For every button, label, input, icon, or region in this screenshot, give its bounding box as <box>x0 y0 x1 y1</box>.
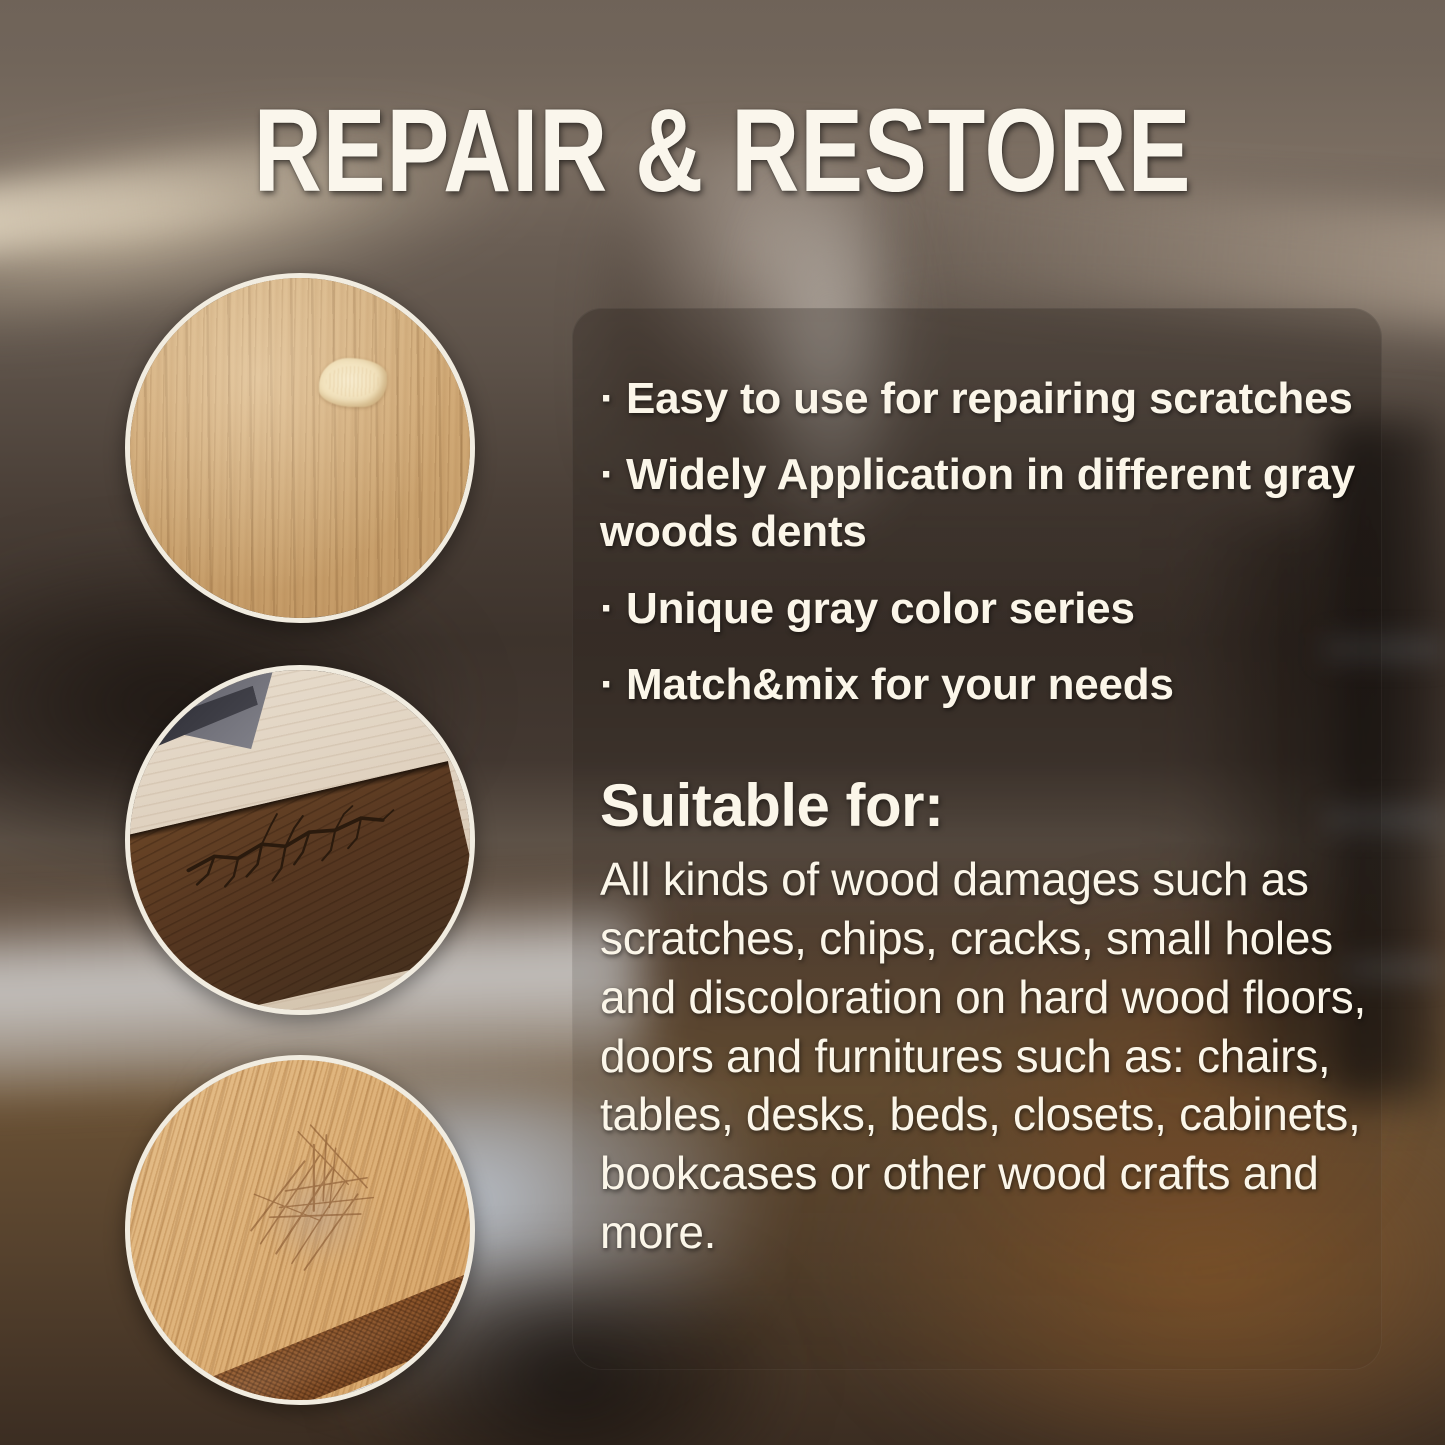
feature-bullet-3: Unique gray color series <box>600 580 1400 637</box>
oak-surface-image <box>126 274 474 622</box>
suitable-for-body: All kinds of wood damages such as scratc… <box>600 850 1390 1262</box>
photo-oak-surface-with-chip <box>125 273 475 623</box>
oak-light-sheen <box>126 274 474 622</box>
photo-whitewashed-plank-with-cracks <box>125 665 475 1015</box>
surface-scratches <box>223 1112 411 1293</box>
page-title: REPAIR & RESTORE <box>145 92 1301 210</box>
scratched-board-image <box>126 1056 474 1404</box>
feature-bullet-4: Match&mix for your needs <box>600 656 1400 713</box>
wood-crack-damage <box>182 798 398 888</box>
suitable-for-heading: Suitable for: <box>600 771 1400 840</box>
feature-bullet-list: Easy to use for repairing scratches Wide… <box>600 370 1400 713</box>
wood-chip-damage <box>319 358 387 407</box>
cracked-plank-image <box>126 666 474 1014</box>
feature-text-block: Easy to use for repairing scratches Wide… <box>600 370 1400 1262</box>
feature-bullet-2: Widely Application in different gray woo… <box>600 446 1400 560</box>
product-feature-poster: REPAIR & RESTORE <box>0 0 1445 1445</box>
feature-bullet-1: Easy to use for repairing scratches <box>600 370 1400 427</box>
photo-scratched-board-edge <box>125 1055 475 1405</box>
